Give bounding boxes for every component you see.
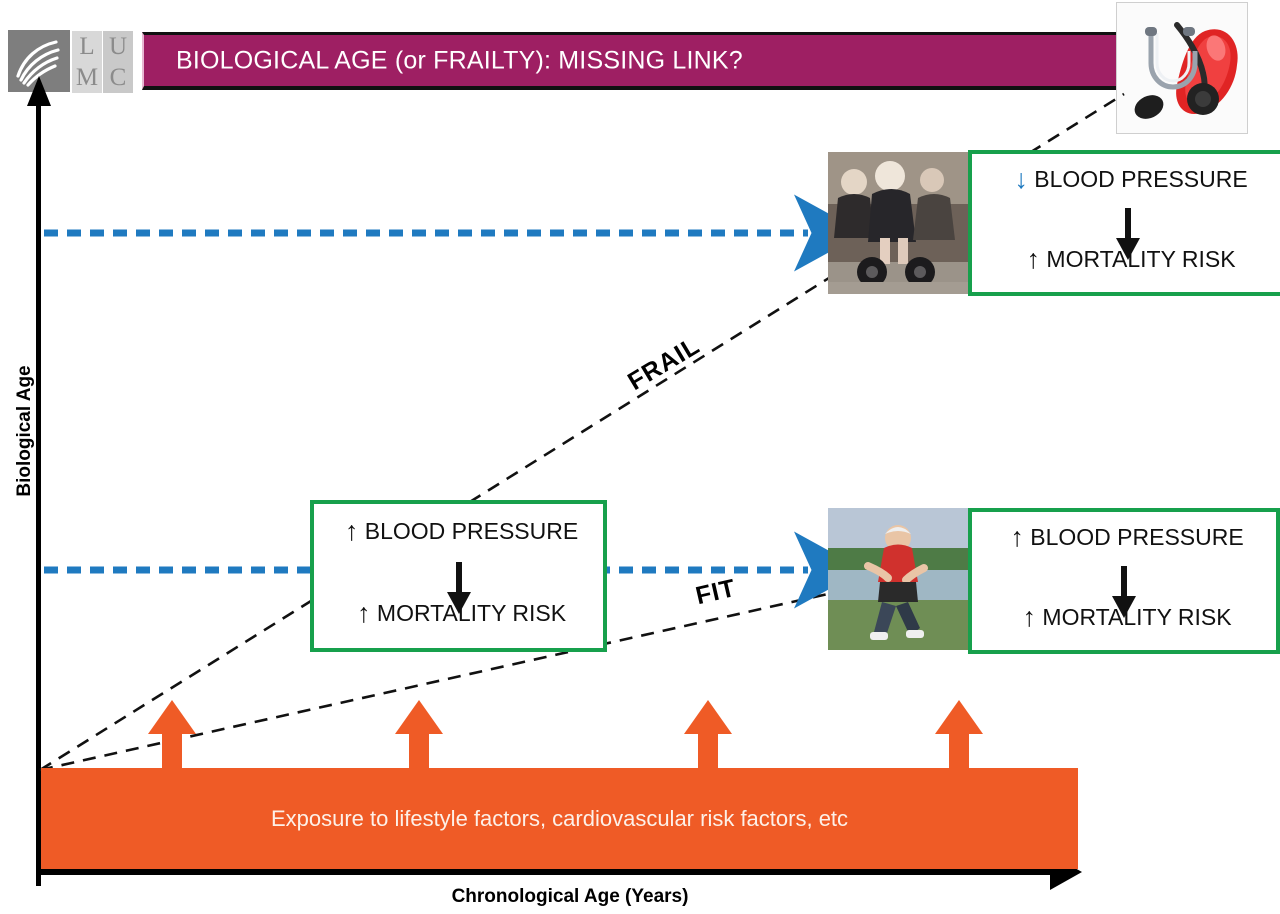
- y-axis-label: Biological Age: [14, 351, 36, 511]
- mortality-risk-up-arrow-icon: ↑: [351, 600, 377, 627]
- blood-pressure-label: BLOOD PRESSURE: [365, 518, 578, 545]
- blood-pressure-label: BLOOD PRESSURE: [1030, 524, 1243, 551]
- middle-outcome-box: ↑ BLOOD PRESSURE ↑ MORTALITY RISK: [310, 500, 607, 652]
- y-axis-arrowhead-icon: [27, 76, 51, 106]
- fit-blood-pressure-row: ↑ BLOOD PRESSURE: [972, 524, 1276, 551]
- exposure-band-label: Exposure to lifestyle factors, cardiovas…: [41, 806, 1078, 832]
- stethoscope-photo: [1116, 2, 1248, 134]
- mortality-risk-label: MORTALITY RISK: [1046, 246, 1235, 273]
- blood-pressure-up-arrow-icon: ↑: [339, 518, 365, 545]
- x-axis-line: [36, 869, 1056, 875]
- middle-blood-pressure-row: ↑ BLOOD PRESSURE: [314, 518, 603, 545]
- diagram-canvas: L U M C BIOLOGICAL AGE (or FRAILTY): MIS…: [0, 0, 1280, 914]
- fit-mortality-risk-row: ↑ MORTALITY RISK: [972, 604, 1276, 631]
- lumc-letter-u: U: [103, 31, 133, 62]
- mortality-risk-label: MORTALITY RISK: [377, 600, 566, 627]
- blood-pressure-label: BLOOD PRESSURE: [1034, 166, 1247, 193]
- lumc-letter-c: C: [103, 62, 133, 93]
- x-axis-label: Chronological Age (Years): [330, 886, 810, 908]
- blood-pressure-down-arrow-icon: ↓: [1008, 166, 1034, 193]
- fit-trajectory-label: FIT: [693, 574, 739, 611]
- blood-pressure-up-arrow-icon: ↑: [1004, 524, 1030, 551]
- mortality-risk-up-arrow-icon: ↑: [1020, 246, 1046, 273]
- stethoscope-icon: [1117, 3, 1247, 133]
- page-title: BIOLOGICAL AGE (or FRAILTY): MISSING LIN…: [176, 46, 743, 75]
- elderly-wheelchair-icon: [828, 152, 968, 294]
- middle-mortality-risk-row: ↑ MORTALITY RISK: [314, 600, 603, 627]
- mortality-risk-up-arrow-icon: ↑: [1016, 604, 1042, 631]
- lumc-letters-top: L U: [72, 31, 134, 62]
- title-banner: BIOLOGICAL AGE (or FRAILTY): MISSING LIN…: [142, 32, 1188, 90]
- fit-runner-photo: [828, 508, 968, 650]
- frail-mortality-risk-row: ↑ MORTALITY RISK: [972, 246, 1280, 273]
- frail-trajectory-label: FRAIL: [623, 332, 705, 397]
- lumc-letter-m: M: [72, 62, 102, 93]
- elderly-wheelchair-photo: [828, 152, 968, 294]
- fit-outcome-box: ↑ BLOOD PRESSURE ↑ MORTALITY RISK: [968, 508, 1280, 654]
- lumc-letter-l: L: [72, 31, 102, 62]
- running-man-icon: [828, 508, 968, 650]
- frail-blood-pressure-row: ↓ BLOOD PRESSURE: [972, 166, 1280, 193]
- exposure-band: Exposure to lifestyle factors, cardiovas…: [41, 768, 1078, 869]
- mortality-risk-label: MORTALITY RISK: [1042, 604, 1231, 631]
- frail-outcome-box: ↓ BLOOD PRESSURE ↑ MORTALITY RISK: [968, 150, 1280, 296]
- lumc-letters-bottom: M C: [72, 62, 134, 93]
